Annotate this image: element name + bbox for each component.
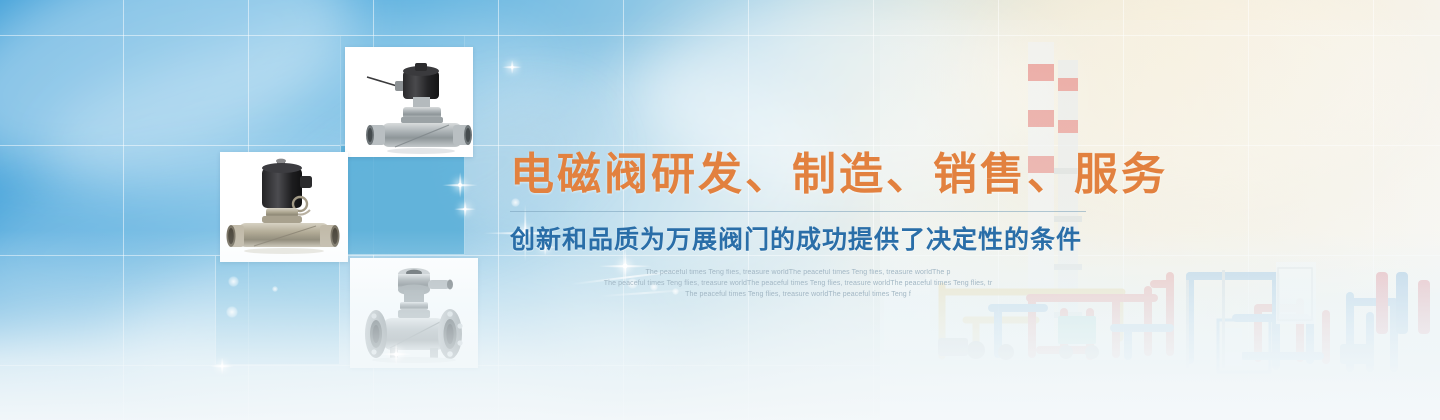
page-title: 电磁阀研发、制造、销售、服务 xyxy=(510,150,1130,199)
fine-print-line: The peaceful times Teng flies, treasure … xyxy=(510,290,1086,301)
title-divider xyxy=(510,211,1086,212)
fine-print-line: The peaceful times Teng flies, treasure … xyxy=(510,279,1086,290)
solenoid-valve-threaded-horizontal-icon xyxy=(345,47,473,157)
fine-print-block: The peaceful times Teng flies, treasure … xyxy=(510,268,1086,301)
hero-text-block: 电磁阀研发、制造、销售、服务 创新和品质为万展阀门的成功提供了决定性的条件 Th… xyxy=(510,150,1130,301)
fine-print-line: The peaceful times Teng flies, treasure … xyxy=(510,268,1086,279)
product-image-card[interactable] xyxy=(345,47,473,157)
hero-banner: 电磁阀研发、制造、销售、服务 创新和品质为万展阀门的成功提供了决定性的条件 Th… xyxy=(0,0,1440,420)
page-subtitle: 创新和品质为万展阀门的成功提供了决定性的条件 xyxy=(510,220,1130,256)
